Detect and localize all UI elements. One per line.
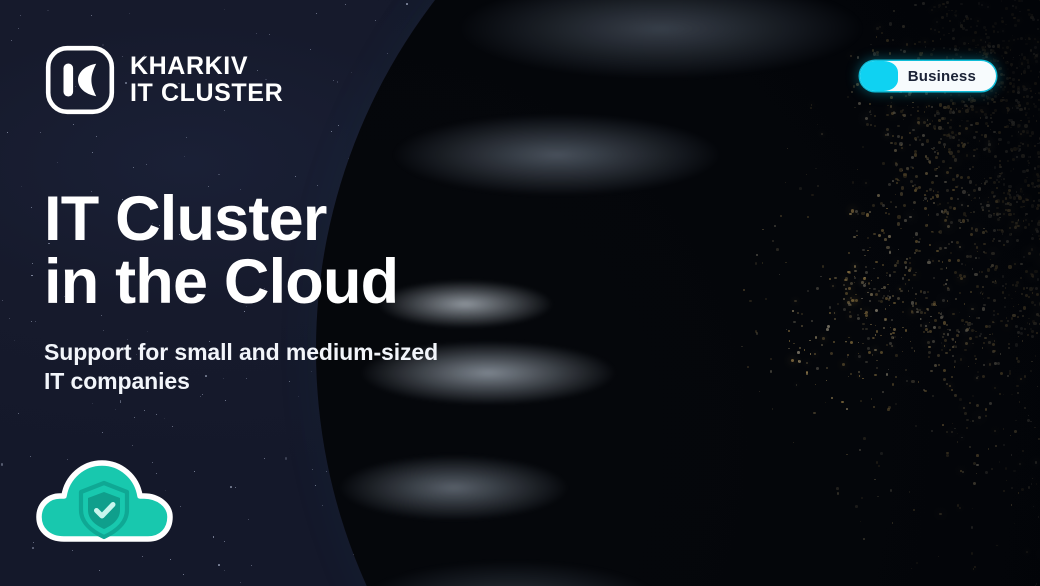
cloud-shield-check-icon [34, 452, 186, 552]
status-dot-icon [860, 61, 898, 91]
page-title: IT Cluster in the Cloud [44, 188, 514, 314]
status-badge[interactable]: Business [860, 61, 996, 91]
page-subtitle: Support for small and medium-sized IT co… [44, 338, 514, 397]
promo-banner: KHARKIV IT CLUSTER Business IT Cluster i… [0, 0, 1040, 586]
kharkiv-k-monogram-icon [44, 44, 116, 116]
hero-copy: IT Cluster in the Cloud Support for smal… [44, 188, 514, 397]
brand-line-2: IT CLUSTER [130, 79, 283, 107]
status-badge-label: Business [908, 68, 976, 85]
brand-line-1: KHARKIV [130, 52, 248, 80]
brand-wordmark: KHARKIV IT CLUSTER [130, 53, 283, 107]
brand-logo[interactable]: KHARKIV IT CLUSTER [44, 44, 283, 116]
